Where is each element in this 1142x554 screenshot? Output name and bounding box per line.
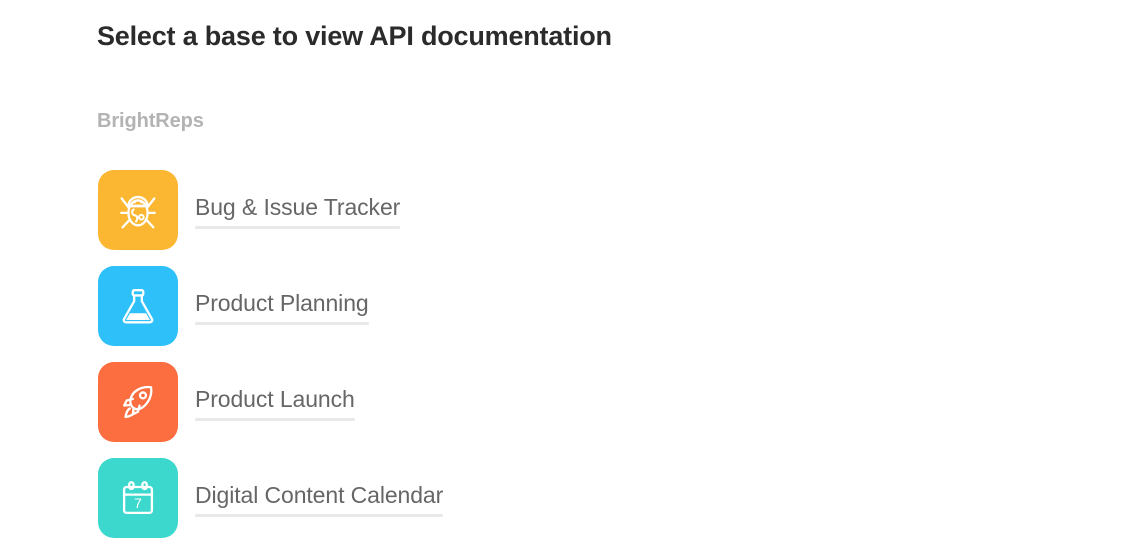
base-label: Product Planning [195,289,369,317]
base-list-item-product-planning[interactable]: Product Planning [0,266,1142,362]
page-title: Select a base to view API documentation [97,21,612,52]
base-label-underline [195,322,369,325]
base-icon-tile[interactable]: 7 [98,458,178,538]
base-label-wrap[interactable]: Product Launch [195,385,355,421]
base-label-underline [195,226,400,229]
base-icon-tile[interactable] [98,266,178,346]
base-list-item-digital-content-calendar[interactable]: 7 Digital Content Calendar [0,458,1142,554]
base-list: Bug & Issue Tracker Product Planning [0,170,1142,554]
base-label: Bug & Issue Tracker [195,193,400,221]
base-label-underline [195,514,443,517]
bug-icon [115,187,161,233]
base-label-wrap[interactable]: Digital Content Calendar [195,481,443,517]
base-label-underline [195,418,355,421]
base-label-wrap[interactable]: Product Planning [195,289,369,325]
base-label-wrap[interactable]: Bug & Issue Tracker [195,193,400,229]
calendar-day-number: 7 [134,495,142,511]
rocket-icon [115,379,161,425]
base-selection-page: Select a base to view API documentation … [0,0,1142,550]
base-label: Digital Content Calendar [195,481,443,509]
flask-icon [115,283,161,329]
calendar-icon: 7 [115,475,161,521]
base-list-item-bug-issue-tracker[interactable]: Bug & Issue Tracker [0,170,1142,266]
base-icon-tile[interactable] [98,170,178,250]
base-list-item-product-launch[interactable]: Product Launch [0,362,1142,458]
workspace-name: BrightReps [97,110,204,133]
base-label: Product Launch [195,385,355,413]
base-icon-tile[interactable] [98,362,178,442]
